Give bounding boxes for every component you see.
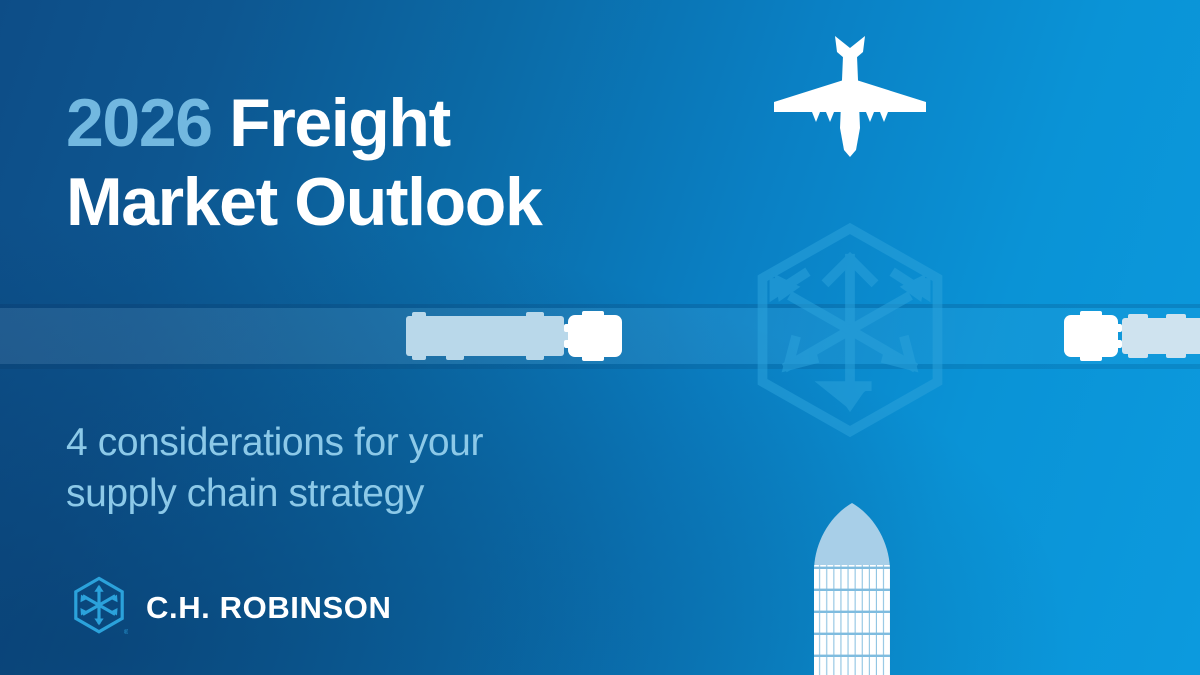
hexagon-cube-watermark (742, 222, 958, 438)
headline-rest: Freight (212, 85, 450, 161)
page-title: 2026 FreightMarket Outlook (66, 84, 541, 242)
registered-trademark-mark: ® (124, 628, 128, 636)
page-subtitle: 4 considerations for your supply chain s… (66, 418, 483, 519)
semi-truck-right-icon (1062, 310, 1200, 362)
brand-lockup: ® C.H. ROBINSON (70, 576, 391, 640)
hero-graphic: 2026 FreightMarket Outlook 4 considerati… (0, 0, 1200, 675)
brand-name: C.H. ROBINSON (146, 590, 391, 626)
content-column: 2026 FreightMarket Outlook 4 considerati… (66, 0, 726, 675)
airplane-top-view-icon (770, 32, 930, 157)
ch-robinson-hexagon-cube-logo-icon: ® (70, 576, 128, 640)
headline-line2: Market Outlook (66, 164, 541, 240)
container-ship-top-view-icon (806, 503, 898, 675)
headline-year: 2026 (66, 85, 212, 161)
